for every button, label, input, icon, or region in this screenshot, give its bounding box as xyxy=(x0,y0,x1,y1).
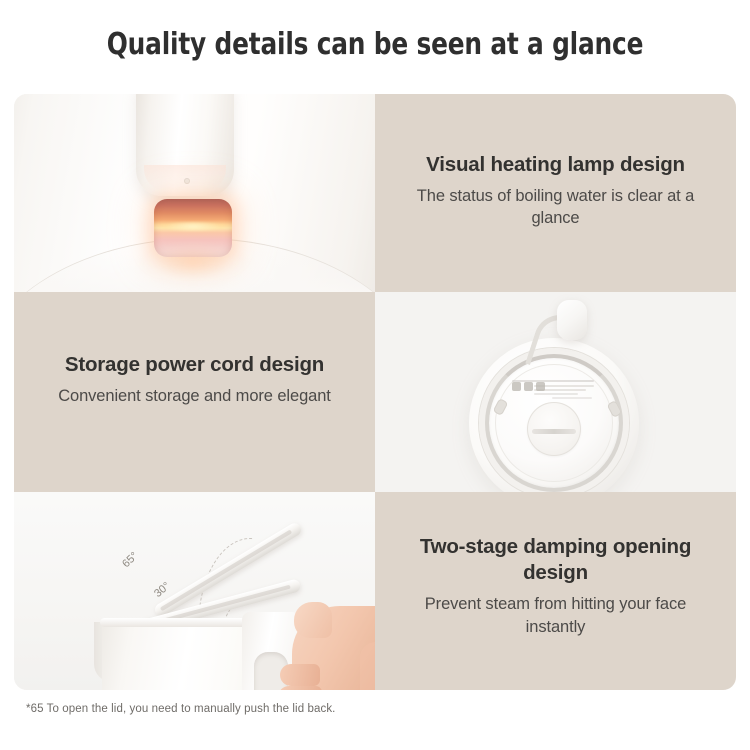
feature-image-storage-power-cord xyxy=(375,292,736,492)
page-title: Quality details can be seen at a glance xyxy=(30,27,720,62)
feature-text-block: Visual heating lamp design The status of… xyxy=(375,152,736,229)
feature-image-two-stage-damping: 65° 30° xyxy=(14,492,375,690)
hand-wrist xyxy=(360,642,375,690)
feature-headline-two-stage-damping: Two-stage damping opening design xyxy=(401,534,710,586)
kettle-screw-dot-icon xyxy=(184,178,190,184)
kettle-lid-opening-angles-photo: 65° 30° xyxy=(14,492,375,690)
power-plug xyxy=(557,300,587,340)
angle-label-65: 65° xyxy=(120,550,140,570)
hand-thumb xyxy=(294,602,332,638)
kettle-heating-lamp-photo xyxy=(14,94,375,292)
feature-subtext-two-stage-damping: Prevent steam from hitting your face ins… xyxy=(401,593,710,637)
hand-finger xyxy=(280,664,320,686)
feature-text-visual-heating-lamp: Visual heating lamp design The status of… xyxy=(375,94,736,292)
footnote: *65 To open the lid, you need to manuall… xyxy=(26,703,335,715)
base-center-slot xyxy=(532,429,576,434)
feature-headline-storage-power-cord: Storage power cord design xyxy=(40,352,349,378)
feature-subtext-visual-heating-lamp: The status of boiling water is clear at … xyxy=(401,185,710,229)
hand-finger xyxy=(278,686,322,690)
kettle-base-bottom-cord-storage-photo xyxy=(375,292,736,492)
feature-text-block: Storage power cord design Convenient sto… xyxy=(14,352,375,407)
feature-headline-visual-heating-lamp: Visual heating lamp design xyxy=(401,152,710,178)
feature-grid: Visual heating lamp design The status of… xyxy=(14,94,736,690)
feature-text-storage-power-cord: Storage power cord design Convenient sto… xyxy=(14,292,375,492)
certification-marks-icon xyxy=(512,382,545,391)
feature-text-block: Two-stage damping opening design Prevent… xyxy=(375,534,736,638)
feature-text-two-stage-damping: Two-stage damping opening design Prevent… xyxy=(375,492,736,690)
hand-holding-handle xyxy=(276,602,375,690)
feature-image-visual-heating-lamp xyxy=(14,94,375,292)
feature-subtext-storage-power-cord: Convenient storage and more elegant xyxy=(40,385,349,407)
lamp-ambient-glow xyxy=(132,244,254,292)
